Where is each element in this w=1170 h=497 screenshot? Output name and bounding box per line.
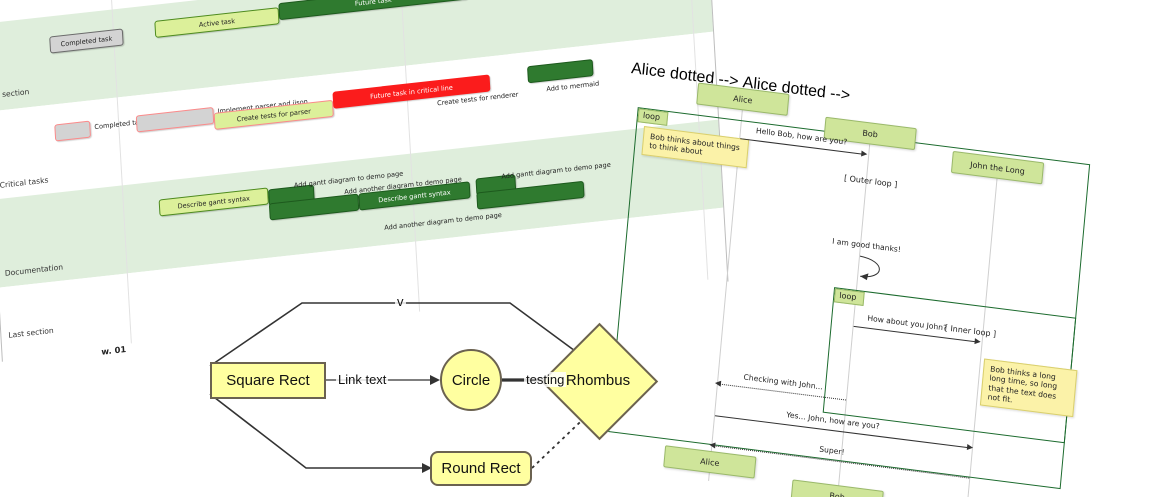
- note-line-4: not fit.: [987, 392, 1013, 404]
- gantt-axis-tick-label: w. 01: [101, 344, 126, 357]
- flow-node-circle[interactable]: Circle: [440, 349, 502, 411]
- flow-node-round-rect[interactable]: Round Rect: [430, 451, 532, 486]
- flow-edge-label-link-text: Link text: [336, 372, 388, 387]
- flow-edge-label-testing: testing: [524, 372, 566, 387]
- arrowhead-icon: [974, 338, 980, 345]
- flowchart: Square Rect Circle Rhombus Round Rect Li…: [180, 288, 760, 497]
- flow-edge-label-v: v: [395, 294, 406, 309]
- flow-node-square-rect[interactable]: Square Rect: [210, 362, 326, 399]
- diagram-montage: Adding GANTT diagram functionality to me…: [0, 0, 1170, 497]
- arrowhead-icon: [967, 444, 973, 451]
